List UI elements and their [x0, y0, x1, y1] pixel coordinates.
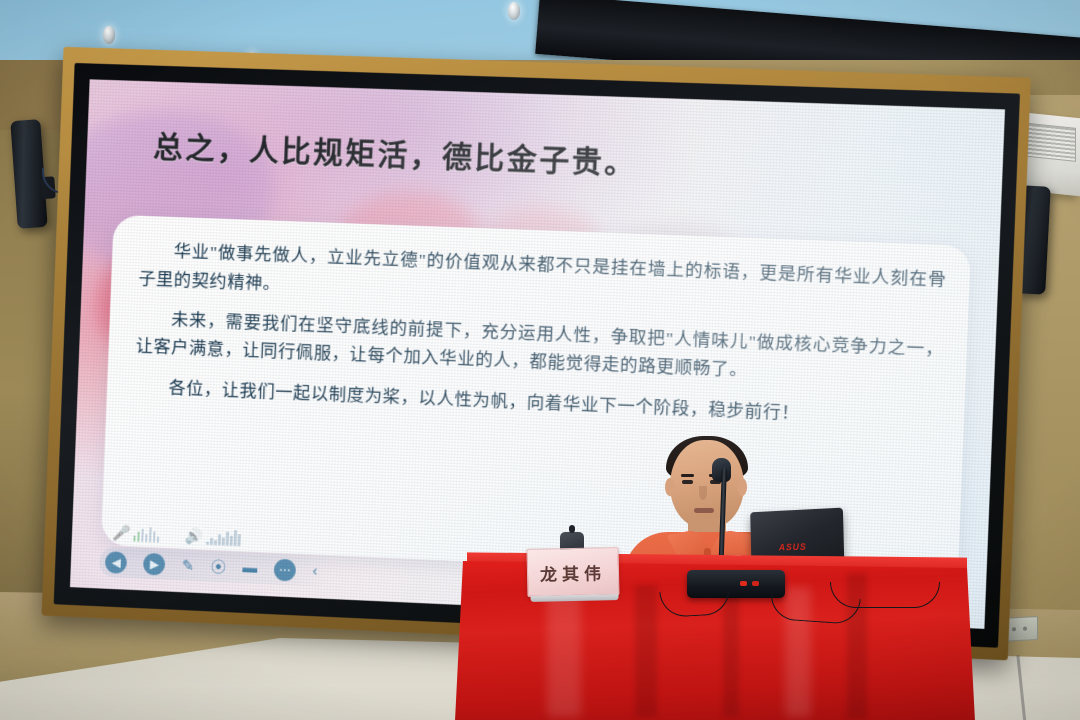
slide-body-text: 华业"做事先做人，立业先立德"的价值观从来都不只是挂在墙上的标语，更是所有华业人… — [133, 236, 947, 445]
next-slide-icon[interactable]: ▶ — [143, 553, 165, 576]
asus-logo: ASUS — [779, 542, 807, 553]
previous-slide-icon[interactable]: ◀ — [105, 551, 127, 574]
speaker-meter: 🔊 — [185, 528, 241, 546]
pen-icon[interactable]: ✎ — [182, 556, 195, 574]
microphone-meter: 🎤 — [112, 525, 160, 543]
name-plate: 龙其伟 — [527, 547, 620, 597]
led-panel: 总之，人比规矩活，德比金子贵。 华业"做事先做人，立业先立德"的价值观从来都不只… — [70, 79, 1005, 629]
mic-indicator-led — [740, 581, 747, 586]
speaker-level-bars — [206, 529, 241, 546]
conference-room-scene: 总之，人比规矩活，德比金子贵。 华业"做事先做人，立业先立德"的价值观从来都不只… — [0, 0, 1080, 720]
laser-pointer-icon[interactable]: ⦿ — [211, 556, 227, 577]
collapse-icon[interactable]: ‹ — [312, 563, 318, 580]
head — [670, 440, 744, 528]
downlight-icon — [508, 2, 520, 20]
mic-indicator-led — [752, 581, 759, 586]
name-plate-text: 龙其伟 — [540, 559, 607, 585]
microphone-icon: 🎤 — [112, 526, 131, 542]
speaker-icon: 🔊 — [185, 529, 204, 545]
downlight-icon — [103, 26, 115, 44]
eyebrow-left — [681, 474, 694, 477]
nose — [699, 486, 707, 500]
eye-left — [682, 480, 693, 484]
more-options-icon[interactable]: ⋯ — [273, 558, 296, 581]
video-camera-icon[interactable]: ▬ — [242, 559, 257, 577]
mic-level-bars — [133, 526, 160, 543]
mouth — [694, 508, 714, 513]
presentation-slide: 总之，人比规矩活，德比金子贵。 华业"做事先做人，立业先立德"的价值观从来都不只… — [70, 79, 1005, 629]
ear-right — [737, 478, 747, 496]
ear-left — [665, 478, 675, 496]
